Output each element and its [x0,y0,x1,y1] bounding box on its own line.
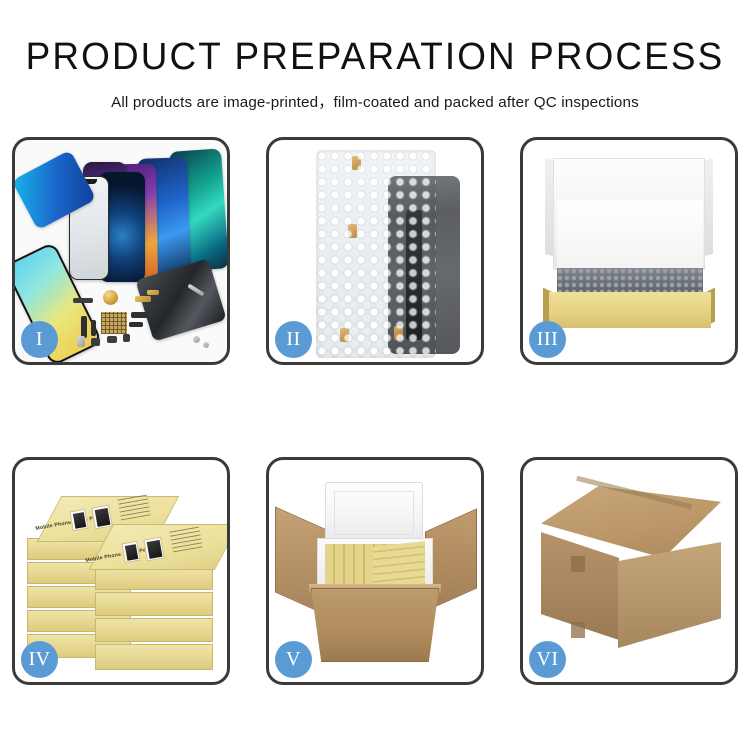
step-badge-5: V [275,641,312,678]
page-title: PRODUCT PREPARATION PROCESS [11,38,739,78]
stack-box-8 [95,618,213,642]
box-window-front-1 [121,541,140,563]
screw-icon-2 [203,342,209,348]
part-chip-gold-2 [147,290,159,295]
part-chip-3 [107,336,117,343]
speaker-mesh-icon [101,312,127,334]
part-chip-1 [73,298,93,303]
step-badge-4: IV [21,641,58,678]
box-yellow-front [549,292,711,328]
flex-cable-4 [129,322,143,327]
step-badge-3: III [529,321,566,358]
product-preparation-process-page: PRODUCT PREPARATION PROCESS All products… [0,0,750,750]
gold-tab-2 [348,224,357,238]
vibration-motor-icon [103,290,118,305]
box-window-top-2 [91,505,113,530]
step-panel-3: III [520,137,738,365]
step-panel-6: VI [520,457,738,685]
page-header: PRODUCT PREPARATION PROCESS All products… [0,0,750,112]
carton-tape-patch-1 [571,556,585,572]
carton-front-face [311,588,439,662]
gold-tab-3 [340,328,349,342]
step-badge-6: VI [529,641,566,678]
flex-cable-1 [81,316,87,338]
step-panel-2: II [266,137,484,365]
wrapped-flex-strip [406,210,422,340]
process-steps-grid: I II [12,137,738,685]
carton-tape-patch-2 [571,622,585,638]
box-window-top-1 [69,509,88,531]
carton-right-face [618,542,721,648]
step-panel-1: I [12,137,230,365]
step-badge-2: II [275,321,312,358]
page-subtitle: All products are image-printed，film-coat… [0,90,750,112]
stack-box-9 [95,644,213,670]
gold-tab-1 [352,156,361,170]
step-panel-5: V [266,457,484,685]
step-panel-4: Mobile Phone Spare Parts Mobile Phone Sp… [12,457,230,685]
box-stack: Mobile Phone Spare Parts Mobile Phone Sp… [23,476,223,672]
bubble-wrap-bag [316,150,436,358]
gold-tab-4 [394,326,403,340]
part-chip-gold-1 [135,296,151,302]
part-chip-4 [123,334,130,342]
stack-box-7 [95,592,213,616]
step-badge-1: I [21,321,58,358]
flex-cable-3 [131,312,149,318]
part-chip-2 [91,338,100,346]
yellow-boxes-row-2 [373,541,425,588]
foam-cooler-lid [325,482,423,544]
flex-cable-2 [91,320,96,336]
white-foam-sheet [557,200,703,272]
screw-icon-1 [193,336,200,343]
part-chip-silver-1 [77,336,85,347]
dark-foam-padding [557,268,703,294]
box-window-front-2 [143,537,165,562]
